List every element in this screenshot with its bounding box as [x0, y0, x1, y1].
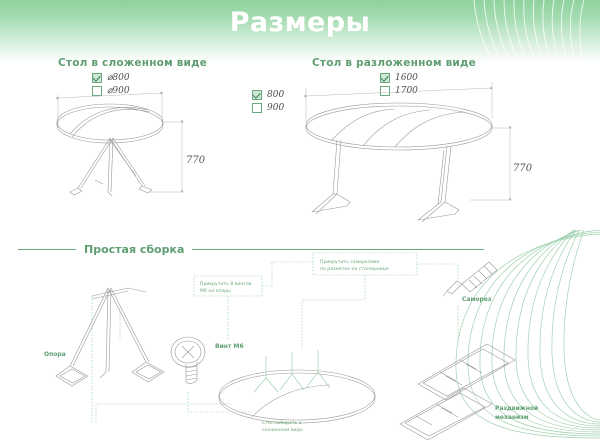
- assembly-guide-lines: [254, 350, 330, 392]
- folded-table-drawing: [57, 90, 163, 196]
- option-label: 1600: [395, 73, 418, 83]
- assembly-section-title: Простая сборка: [76, 243, 192, 256]
- bolt-drawing: [171, 337, 205, 384]
- folded-diameter-options: ⌀800 ⌀900: [92, 72, 130, 98]
- part-label-opora: Опора: [44, 350, 66, 359]
- checkbox-unchecked-icon[interactable]: [92, 86, 102, 96]
- unfolded-height-dimension-line: [470, 128, 512, 200]
- instruction-sheet: Размеры: [0, 0, 600, 440]
- annotation-self-tapping: Прикрутить саморезами по разметке на сто…: [320, 260, 389, 273]
- option-row[interactable]: 800: [252, 89, 284, 101]
- unfolded-table-drawing: [306, 82, 492, 222]
- option-label: ⌀900: [107, 86, 130, 96]
- unfolded-length-options: 1600 1700: [380, 72, 418, 98]
- checkbox-checked-icon[interactable]: [380, 73, 390, 83]
- checkbox-unchecked-icon[interactable]: [252, 103, 262, 113]
- option-label: 900: [267, 103, 284, 113]
- self-tapping-screw-drawing: [443, 262, 497, 296]
- checkbox-checked-icon[interactable]: [252, 90, 262, 100]
- divider-rule-left: [18, 249, 76, 250]
- folded-height-dimension-line: [150, 122, 184, 192]
- option-label: 1700: [395, 86, 418, 96]
- part-label-samorez: Саморез: [462, 295, 491, 304]
- divider-rule-right: [192, 249, 484, 250]
- support-leg-drawing: [56, 288, 164, 386]
- section-title-unfolded: Стол в разложенном виде: [312, 57, 476, 69]
- annotation-screw-supports: Прикрутить 8 винтов М6 на опоры: [200, 282, 252, 295]
- option-label: ⌀800: [107, 73, 130, 83]
- option-row[interactable]: 1700: [380, 85, 418, 97]
- folded-height-value: 770: [186, 155, 205, 166]
- option-row[interactable]: 900: [252, 102, 284, 114]
- section-title-folded: Стол в сложенном виде: [58, 57, 207, 69]
- unfolded-height-value: 770: [513, 163, 532, 174]
- assembly-divider: Простая сборка: [18, 243, 484, 256]
- page-title: Размеры: [0, 7, 600, 38]
- sliding-mechanism-drawing: [400, 344, 515, 440]
- option-row[interactable]: ⌀900: [92, 85, 130, 97]
- unfolded-width-options: 800 900: [252, 89, 284, 115]
- page-header: Размеры: [0, 0, 600, 62]
- part-label-vint: Винт М6: [215, 342, 244, 351]
- assembly-note: Стол собирать в сложенном виде: [262, 421, 303, 434]
- checkbox-checked-icon[interactable]: [92, 73, 102, 83]
- option-row[interactable]: ⌀800: [92, 72, 130, 84]
- option-label: 800: [267, 90, 284, 100]
- callout-connector-lines: [92, 253, 458, 422]
- part-label-mechanism: Раздвижной механизм: [495, 404, 538, 422]
- option-row[interactable]: 1600: [380, 72, 418, 84]
- assembled-table-drawing: [219, 370, 375, 423]
- checkbox-unchecked-icon[interactable]: [380, 86, 390, 96]
